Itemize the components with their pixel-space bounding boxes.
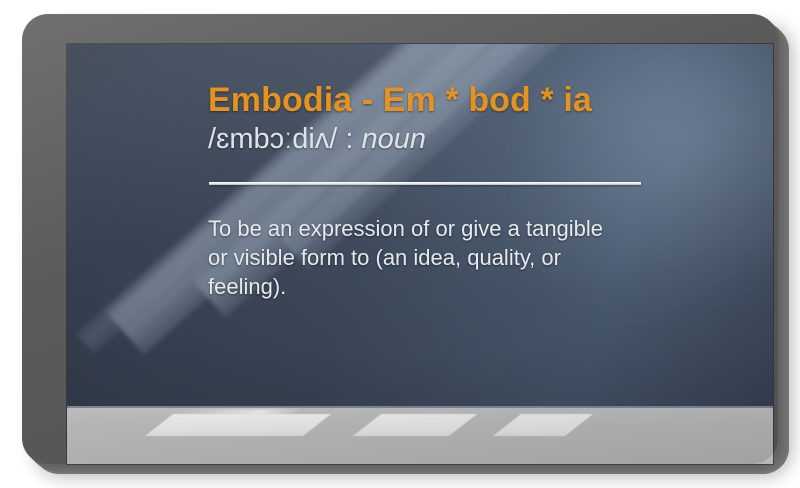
pronunciation-line: /ɛmbɔːdiʌ/ : noun bbox=[208, 123, 678, 156]
pronunciation-separator: : bbox=[337, 123, 361, 155]
floor-light-patch bbox=[353, 414, 477, 436]
slide-title: Embodia - Em * bod * ia bbox=[208, 82, 678, 119]
screenshot-stage: Embodia - Em * bod * ia /ɛmbɔːdiʌ/ : nou… bbox=[0, 0, 800, 488]
definition-text: To be an expression of or give a tangibl… bbox=[208, 214, 608, 301]
display-frame: Embodia - Em * bod * ia /ɛmbɔːdiʌ/ : nou… bbox=[22, 14, 778, 464]
floor-background bbox=[67, 406, 773, 464]
pronunciation-ipa: /ɛmbɔːdiʌ/ bbox=[208, 123, 337, 155]
floor-light-patch bbox=[493, 414, 593, 436]
floor-light-patch bbox=[145, 414, 331, 436]
horizontal-divider bbox=[209, 182, 641, 185]
part-of-speech: noun bbox=[362, 123, 427, 155]
slide-screen: Embodia - Em * bod * ia /ɛmbɔːdiʌ/ : nou… bbox=[67, 44, 773, 464]
slide-content: Embodia - Em * bod * ia /ɛmbɔːdiʌ/ : nou… bbox=[208, 82, 678, 301]
